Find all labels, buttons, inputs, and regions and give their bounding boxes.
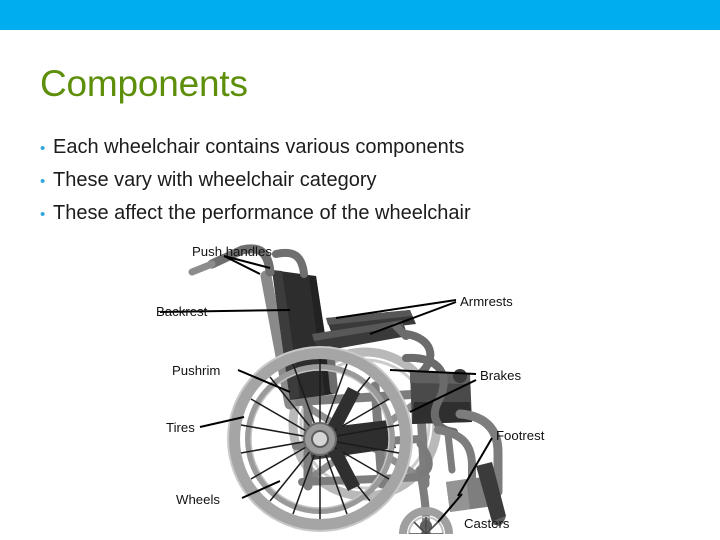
label-push-handles: Push handles [192, 244, 272, 259]
label-tires: Tires [166, 420, 195, 435]
label-pushrim: Pushrim [172, 363, 220, 378]
label-brakes: Brakes [480, 368, 521, 383]
top-banner [0, 0, 720, 30]
label-armrests: Armrests [460, 294, 513, 309]
page-title: Components [40, 62, 248, 106]
bullet-dot-icon: • [40, 132, 53, 165]
bullet-list: • Each wheelchair contains various compo… [40, 131, 640, 230]
list-item: • These affect the performance of the wh… [40, 197, 640, 230]
bullet-dot-icon: • [40, 165, 53, 198]
label-backrest: Backrest [156, 304, 208, 319]
list-item: • Each wheelchair contains various compo… [40, 131, 640, 164]
bullet-text: These affect the performance of the whee… [53, 197, 471, 230]
label-wheels: Wheels [176, 492, 220, 507]
label-casters: Casters [464, 516, 510, 531]
bullet-text: Each wheelchair contains various compone… [53, 131, 464, 164]
bullet-dot-icon: • [40, 198, 53, 231]
bullet-text: These vary with wheelchair category [53, 164, 376, 197]
caster-wheel [403, 511, 449, 534]
label-footrest: Footrest [496, 428, 545, 443]
list-item: • These vary with wheelchair category [40, 164, 640, 197]
wheelchair-graphic [192, 249, 506, 534]
wheelchair-illustration: Push handles Backrest Pushrim Tires Whee… [120, 234, 600, 534]
slide: Components • Each wheelchair contains va… [0, 0, 720, 540]
wheelchair-diagram: Push handles Backrest Pushrim Tires Whee… [120, 234, 600, 534]
